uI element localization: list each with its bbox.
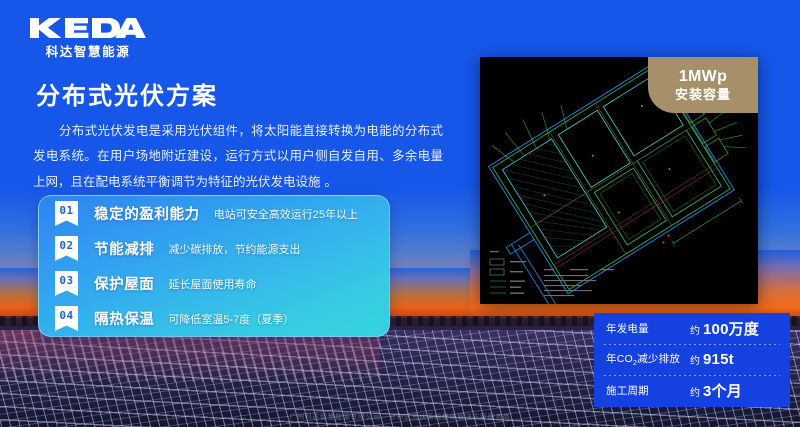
brand-name-cn: 科达智慧能源 (28, 41, 148, 60)
feature-title: 隔热保温 (94, 308, 154, 329)
cad-site-plan[interactable]: 1MWp 安装容量 (480, 57, 758, 304)
stat-prefix: 约 (690, 322, 700, 337)
feature-item[interactable]: 04 隔热保温 可降低室温5-7度（夏季） (39, 301, 389, 336)
features-panel: 01 稳定的盈利能力 电站可安全高效运行25年以上 02 节能减排 减少碳排放，… (38, 195, 390, 337)
feature-item[interactable]: 02 节能减排 减少碳排放，节约能源支出 (39, 231, 389, 266)
stat-label: 施工周期 (606, 383, 690, 398)
brand-logo: 科达智慧能源 (28, 16, 148, 60)
solar-panel-warm-highlight (0, 330, 380, 382)
stat-label-pre: 年CO (606, 353, 633, 365)
feature-item[interactable]: 01 稳定的盈利能力 电站可安全高效运行25年以上 (39, 196, 389, 231)
stat-prefix: 约 (690, 352, 700, 367)
intro-paragraph: 分布式光伏发电是采用光伏组件，将太阳能直接转换为电能的分布式发电系统。在用户场地… (33, 118, 443, 194)
feature-title: 稳定的盈利能力 (94, 203, 200, 224)
capacity-value: 1MWp (679, 68, 727, 87)
feature-description: 减少碳排放，节约能源支出 (168, 241, 300, 257)
stats-panel: 年发电量 约 100万度 年CO2减少排放 约 915t 施工周期 约 3个月 (594, 313, 790, 407)
stat-label: 年发电量 (606, 321, 690, 336)
number-badge-icon: 04 (55, 306, 78, 331)
number-badge-icon: 02 (55, 236, 78, 261)
feature-title: 保护屋面 (94, 273, 154, 294)
stat-number: 3个月 (703, 380, 742, 401)
keda-wordmark-icon (28, 16, 148, 40)
feature-description: 电站可安全高效运行25年以上 (214, 206, 358, 222)
stat-label: 年CO2减少排放 (606, 351, 690, 367)
stat-value: 约 915t (690, 351, 734, 368)
feature-item[interactable]: 03 保护屋面 延长屋面使用寿命 (39, 266, 389, 301)
stat-row: 施工周期 约 3个月 (594, 375, 790, 406)
number-badge-icon: 03 (55, 271, 78, 296)
stat-prefix: 约 (690, 384, 700, 399)
stat-number: 915t (703, 351, 734, 368)
stat-row: 年CO2减少排放 约 915t (594, 344, 790, 375)
feature-title: 节能减排 (94, 238, 154, 259)
stat-label-post: 减少排放 (637, 353, 680, 365)
feature-number: 03 (55, 271, 78, 296)
slide-root: 科达智慧能源 分布式光伏方案 分布式光伏发电是采用光伏组件，将太阳能直接转换为电… (0, 0, 800, 427)
stat-value: 约 3个月 (690, 380, 742, 401)
capacity-badge: 1MWp 安装容量 (648, 57, 758, 113)
feature-number: 01 (55, 201, 78, 226)
stat-value: 约 100万度 (690, 318, 759, 339)
number-badge-icon: 01 (55, 201, 78, 226)
feature-description: 可降低室温5-7度（夏季） (168, 311, 294, 327)
feature-description: 延长屋面使用寿命 (168, 276, 256, 292)
capacity-label: 安装容量 (675, 87, 731, 102)
stat-number: 100万度 (703, 318, 759, 339)
page-title: 分布式光伏方案 (36, 76, 218, 111)
feature-number: 04 (55, 306, 78, 331)
stat-row: 年发电量 约 100万度 (594, 313, 790, 344)
footer-watermark: 广州科达智慧能源有限公司 · 分布式光伏系统整体解决方案服务商 (0, 412, 800, 422)
feature-number: 02 (55, 236, 78, 261)
